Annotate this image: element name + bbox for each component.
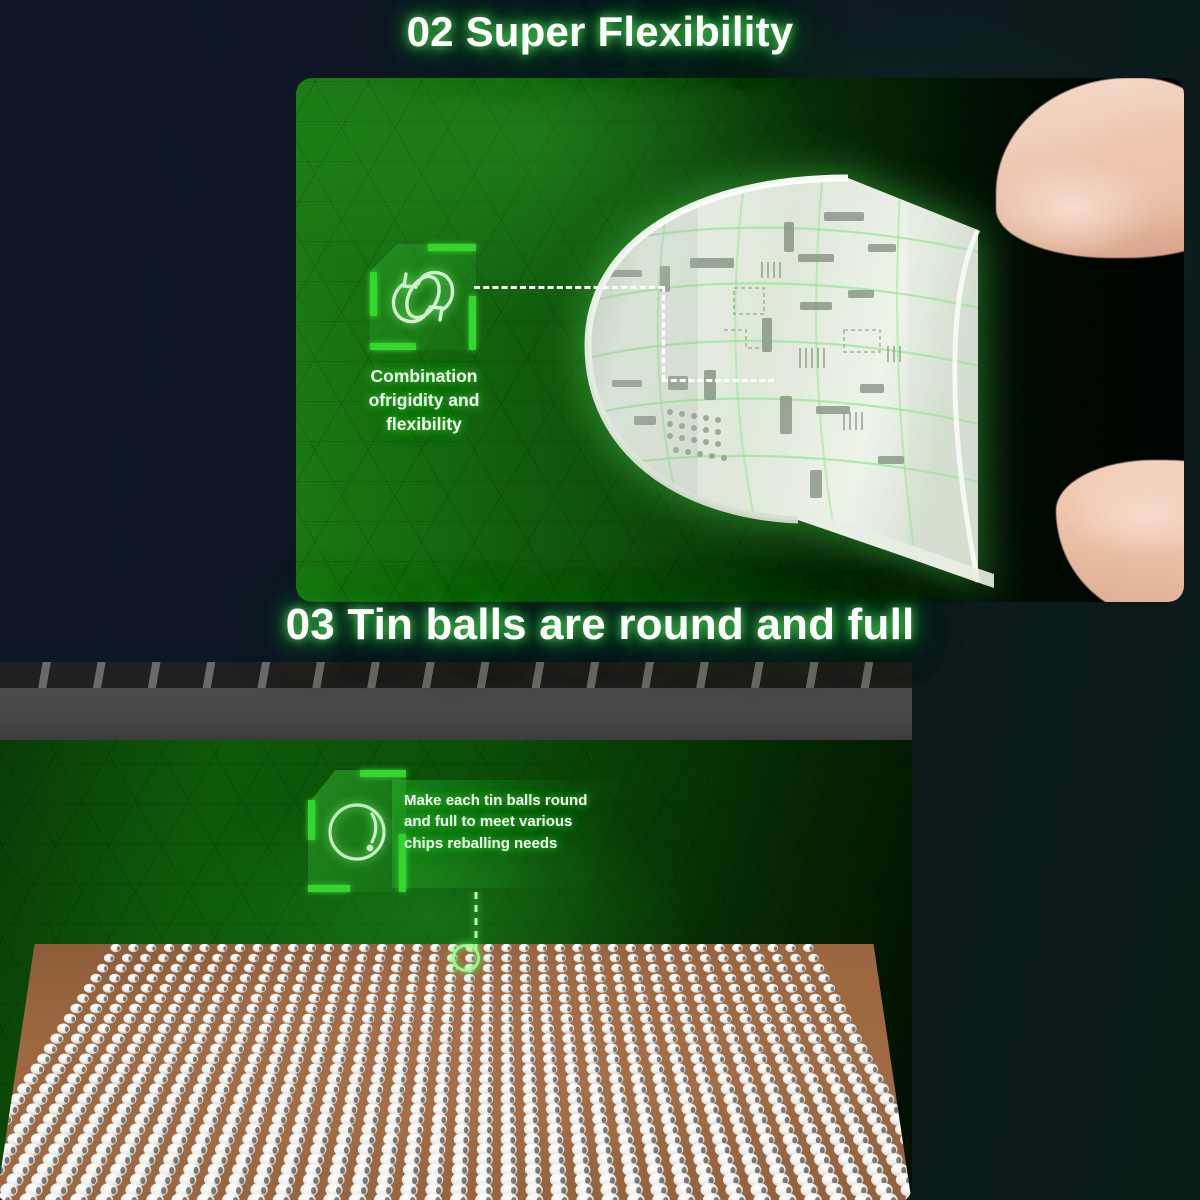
tin-balls-panel bbox=[0, 662, 912, 1200]
finger-bottom-photo bbox=[1056, 460, 1184, 602]
tin-ball-icon-badge bbox=[308, 770, 406, 892]
callout-connector-line bbox=[474, 286, 774, 396]
stencil-frame-bar bbox=[0, 662, 912, 740]
tin-caption-line-1: Make each tin balls round bbox=[404, 790, 612, 811]
solder-ball-array-photo bbox=[0, 944, 912, 1200]
solder-balls bbox=[0, 944, 912, 1200]
target-marker-icon bbox=[452, 944, 480, 972]
flexibility-caption: Combination ofrigidity and flexibility bbox=[332, 364, 516, 436]
section-title-02: 02 Super Flexibility bbox=[0, 8, 1200, 56]
flexibility-caption-line-3: flexibility bbox=[332, 412, 516, 436]
tin-balls-caption: Make each tin balls round and full to me… bbox=[404, 790, 612, 854]
flexibility-caption-line-1: Combination bbox=[332, 364, 516, 388]
tin-caption-line-3: chips reballing needs bbox=[404, 833, 612, 854]
section-title-03: 03 Tin balls are round and full bbox=[0, 600, 1200, 650]
flexibility-caption-line-2: ofrigidity and bbox=[332, 388, 516, 412]
flexibility-panel: Combination ofrigidity and flexibility bbox=[296, 78, 1184, 602]
callout-pointer-line bbox=[464, 892, 488, 952]
flexibility-icon-badge bbox=[370, 244, 476, 350]
frame-bar-ridges bbox=[0, 662, 912, 688]
finger-top-photo bbox=[996, 78, 1184, 258]
tin-caption-line-2: and full to meet various bbox=[404, 811, 612, 832]
badge-plate bbox=[370, 244, 476, 350]
badge-plate-2 bbox=[308, 770, 406, 892]
